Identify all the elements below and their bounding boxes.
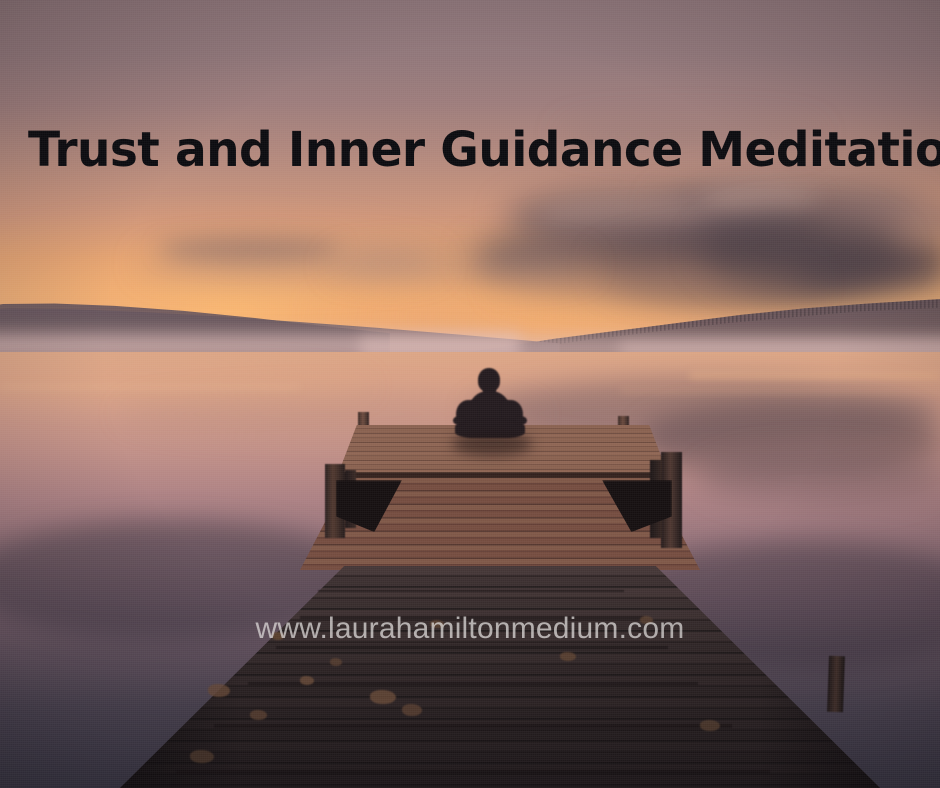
dock [0, 420, 940, 788]
figure-deck-shadow [452, 432, 532, 456]
leaf-debris [700, 720, 720, 731]
dock-plank-seam [176, 770, 770, 774]
dock-right-edge-shadow [120, 566, 880, 788]
meditating-figure [448, 366, 532, 440]
meditation-banner-image: Trust and Inner Guidance Meditation www.… [0, 0, 940, 788]
figure-right-hand [515, 416, 527, 425]
dock-plank-seam [248, 682, 698, 685]
figure-left-hand [453, 416, 465, 425]
dock-plank-seam [318, 590, 624, 592]
dock-plank-seam [214, 724, 732, 728]
leaf-debris [190, 750, 214, 763]
page-title: Trust and Inner Guidance Meditation [28, 126, 890, 174]
leaf-debris [330, 658, 342, 666]
dock-plank-seam [276, 646, 668, 649]
leaf-debris [300, 676, 314, 685]
leaf-debris [208, 684, 230, 697]
dock-post [827, 656, 845, 713]
leaf-debris [402, 704, 422, 716]
watermark-url: www.laurahamiltonmedium.com [0, 612, 940, 646]
leaf-debris [250, 710, 267, 720]
leaf-debris [370, 690, 396, 704]
leaf-debris [560, 652, 576, 661]
